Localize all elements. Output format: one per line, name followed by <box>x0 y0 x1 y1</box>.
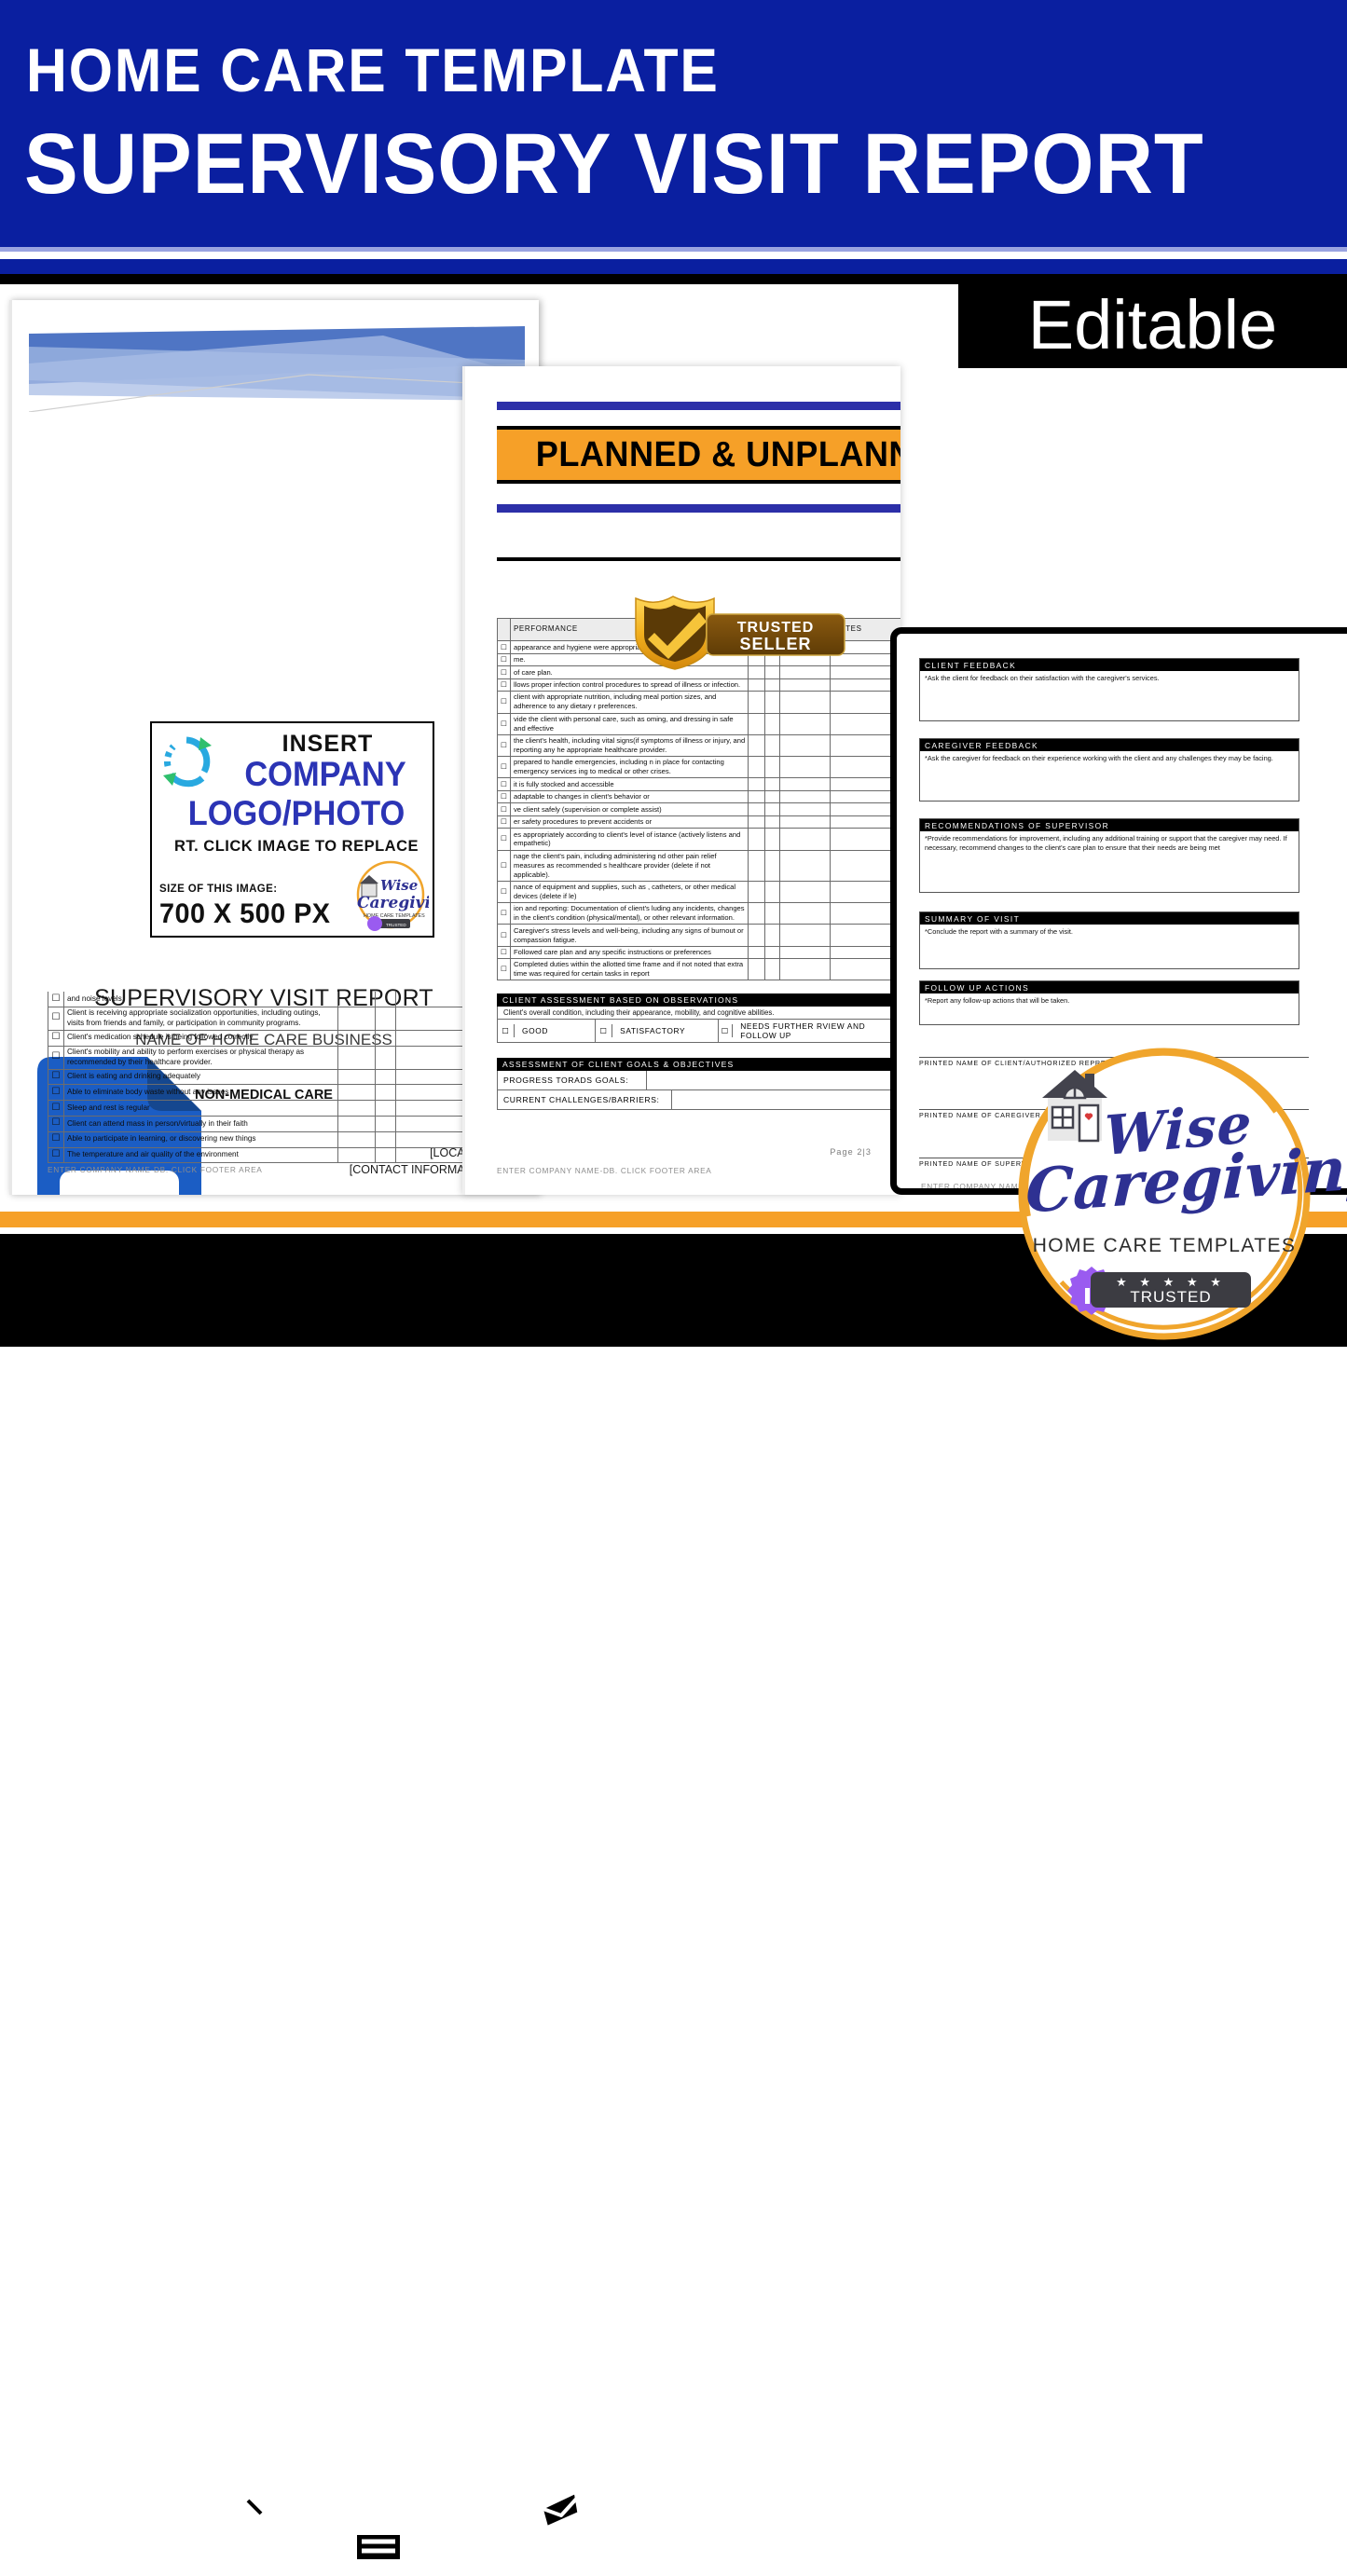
cell-cross[interactable] <box>765 678 780 691</box>
cell-requires-training[interactable] <box>780 757 831 778</box>
performance-label: nance of equipment and supplies, such as… <box>511 881 749 902</box>
checklist-label: Client's mobility and ability to perform… <box>64 1046 338 1069</box>
assessment-option[interactable]: ☐SATISFACTORY <box>596 1020 718 1042</box>
page2-goals-row[interactable]: PROGRESS TORADS GOALS: <box>497 1071 900 1090</box>
cell-check[interactable] <box>749 903 765 925</box>
table-row[interactable]: ☐prepared to handle emergencies, includi… <box>498 757 901 778</box>
page3-section-body[interactable]: *Ask the client for feedback on their sa… <box>920 671 1299 686</box>
cell-requires-training[interactable] <box>780 734 831 756</box>
cell-requires-training[interactable] <box>780 815 831 828</box>
checklist-label: and noise levels. <box>64 992 338 1007</box>
checkbox[interactable]: ☐ <box>498 815 511 828</box>
page2-footer-text[interactable]: ENTER COMPANY NAME-DB. CLICK FOOTER AREA <box>497 1166 712 1175</box>
page2-goals-heading: ASSESSMENT OF CLIENT GOALS & OBJECTIVES <box>497 1058 900 1071</box>
page3-section-heading: FOLLOW UP ACTIONS <box>920 981 1299 993</box>
cell-requires-training[interactable] <box>780 946 831 958</box>
table-row[interactable]: ☐Client's mobility and ability to perfor… <box>48 1046 486 1069</box>
table-row[interactable]: ☐Caregiver's stress levels and well-bein… <box>498 925 901 946</box>
table-row[interactable]: ☐and noise levels. <box>48 992 486 1007</box>
cell-blank-2[interactable] <box>376 1069 396 1085</box>
cell-cross[interactable] <box>765 734 780 756</box>
trusted-seller-badge: TRUSTED SELLER <box>634 594 850 672</box>
document-page-1[interactable]: INSERT COMPANY LOGO/PHOTO RT. CLICK IMAG… <box>9 300 539 1195</box>
table-row[interactable]: ☐adaptable to changes in client's behavi… <box>498 790 901 802</box>
checkbox[interactable]: ☐ <box>498 713 511 734</box>
cell-cross[interactable] <box>765 903 780 925</box>
cell-cross[interactable] <box>765 692 780 713</box>
cell-blank-1[interactable] <box>338 992 376 1007</box>
table-row[interactable]: ☐Sleep and rest is regular <box>48 1101 486 1117</box>
checkbox[interactable]: ☐ <box>498 641 511 653</box>
checklist-label: Client's medication schedule is being fo… <box>64 1030 338 1046</box>
cell-blank-1[interactable] <box>338 1085 376 1101</box>
checkbox[interactable]: ☐ <box>498 734 511 756</box>
page1-checklist-table[interactable]: ☐and noise levels.☐Client is receiving a… <box>48 992 486 1163</box>
cell-cross[interactable] <box>765 946 780 958</box>
cell-check[interactable] <box>749 713 765 734</box>
cell-requires-training[interactable] <box>780 778 831 790</box>
table-row[interactable]: ☐Followed care plan and any specific ins… <box>498 946 901 958</box>
cell-blank-2[interactable] <box>376 1131 396 1147</box>
performance-label: vide the client with personal care, such… <box>511 713 749 734</box>
checkbox[interactable]: ☐ <box>48 1030 64 1046</box>
page1-checklist-wrap: ☐and noise levels.☐Client is receiving a… <box>12 300 539 1195</box>
performance-label: ve client safely (supervision or complet… <box>511 803 749 815</box>
editable-label: Editable <box>1028 291 1277 360</box>
checkbox[interactable]: ☐ <box>498 790 511 802</box>
cell-check[interactable] <box>749 946 765 958</box>
cell-requires-training[interactable] <box>780 925 831 946</box>
performance-label: the client's health, including vital sig… <box>511 734 749 756</box>
page3-section[interactable]: CLIENT FEEDBACK*Ask the client for feedb… <box>919 658 1299 721</box>
footer-icon-row <box>37 2473 597 2576</box>
cell-check[interactable] <box>749 925 765 946</box>
page1-footer-text[interactable]: ENTER COMPANY NAME-DB. CLICK FOOTER AREA <box>48 1165 263 1174</box>
page3-section-heading: CLIENT FEEDBACK <box>920 659 1299 671</box>
checkbox[interactable]: ☐ <box>498 903 511 925</box>
table-row[interactable]: ☐ion and reporting: Documentation of cli… <box>498 903 901 925</box>
logo-tagline: HOME CARE TEMPLATES <box>1014 1235 1314 1257</box>
cell-requires-training[interactable] <box>780 881 831 902</box>
table-row[interactable]: ☐vide the client with personal care, suc… <box>498 713 901 734</box>
trusted-seller-line2: SELLER <box>739 635 811 653</box>
page3-section[interactable]: FOLLOW UP ACTIONS*Report any follow-up a… <box>919 980 1299 1025</box>
performance-label: prepared to handle emergencies, includin… <box>511 757 749 778</box>
checkbox[interactable]: ☐ <box>48 1069 64 1085</box>
editable-badge: Editable <box>958 282 1347 368</box>
table-row[interactable]: ☐nance of equipment and supplies, such a… <box>498 881 901 902</box>
performance-label: client with appropriate nutrition, inclu… <box>511 692 749 713</box>
checklist-label: Client can attend mass in person/virtual… <box>64 1116 338 1131</box>
checkbox[interactable]: ☐ <box>498 1024 515 1037</box>
page2-rule-blue-bottom <box>497 504 900 513</box>
checkbox[interactable]: ☐ <box>498 653 511 665</box>
table-row[interactable]: ☐ve client safely (supervision or comple… <box>498 803 901 815</box>
cell-cross[interactable] <box>765 850 780 881</box>
page3-section-heading: RECOMMENDATIONS OF SUPERVISOR <box>920 819 1299 831</box>
table-row[interactable]: ☐llows proper infection control procedur… <box>498 678 901 691</box>
assessment-option-label: SATISFACTORY <box>612 1024 693 1037</box>
performance-label: llows proper infection control procedure… <box>511 678 749 691</box>
checkbox[interactable]: ☐ <box>498 959 511 980</box>
cell-requires-training[interactable] <box>780 713 831 734</box>
assessment-option-label: NEEDS FURTHER RVIEW AND FOLLOW UP <box>733 1020 900 1042</box>
page3-section[interactable]: SUMMARY OF VISIT*Conclude the report wit… <box>919 911 1299 969</box>
cell-check[interactable] <box>749 815 765 828</box>
document-page-2[interactable]: PLANNED & UNPLANNED VISITS PERFORMANCE ✔… <box>462 366 900 1195</box>
email-laptop-icon[interactable] <box>483 2480 582 2570</box>
checkbox[interactable]: ☐ <box>498 946 511 958</box>
performance-label: Completed duties within the allotted tim… <box>511 959 749 980</box>
page2-goals-label-2: CURRENT CHALLENGES/BARRIERS: <box>498 1090 672 1109</box>
cell-check[interactable] <box>749 803 765 815</box>
page3-section[interactable]: RECOMMENDATIONS OF SUPERVISOR*Provide re… <box>919 818 1299 893</box>
cell-cross[interactable] <box>765 803 780 815</box>
checkbox[interactable]: ☐ <box>48 1131 64 1147</box>
cell-cross[interactable] <box>765 778 780 790</box>
cell-blank-1[interactable] <box>338 1101 376 1117</box>
checkbox[interactable]: ☐ <box>498 881 511 902</box>
cell-check[interactable] <box>749 734 765 756</box>
page2-goals-input-2[interactable] <box>672 1090 900 1109</box>
page2-rule-black <box>497 557 900 561</box>
assessment-option[interactable]: ☐NEEDS FURTHER RVIEW AND FOLLOW UP <box>719 1020 900 1042</box>
cell-requires-training[interactable] <box>780 790 831 802</box>
page2-banner-label: PLANNED & UNPLANNED VISITS <box>497 435 900 475</box>
table-row[interactable]: ☐Client can attend mass in person/virtua… <box>48 1116 486 1131</box>
checkbox[interactable]: ☐ <box>498 925 511 946</box>
page3-section-heading: SUMMARY OF VISIT <box>920 912 1299 925</box>
checkbox[interactable]: ☐ <box>498 692 511 713</box>
cell-requires-training[interactable] <box>780 959 831 980</box>
page2-client-assessment: CLIENT ASSESSMENT BASED ON OBSERVATIONS … <box>497 993 900 1043</box>
page2-goals-input-1[interactable] <box>647 1071 900 1089</box>
checkbox[interactable]: ☐ <box>498 829 511 850</box>
cell-blank-2[interactable] <box>376 1101 396 1117</box>
table-row[interactable]: ☐Able to eliminate body waste without an… <box>48 1085 486 1101</box>
checkbox[interactable]: ☐ <box>498 757 511 778</box>
cell-cross[interactable] <box>765 959 780 980</box>
table-row[interactable]: ☐Client's medication schedule is being f… <box>48 1030 486 1046</box>
checkbox[interactable]: ☐ <box>48 1085 64 1101</box>
checklist-label: Sleep and rest is regular <box>64 1101 338 1117</box>
performance-label: es appropriately according to client's l… <box>511 829 749 850</box>
table-row[interactable]: ☐Client is receiving appropriate sociali… <box>48 1007 486 1030</box>
performance-label: Followed care plan and any specific inst… <box>511 946 749 958</box>
table-row[interactable]: ☐the client's health, including vital si… <box>498 734 901 756</box>
cell-cross[interactable] <box>765 815 780 828</box>
cell-blank-1[interactable] <box>338 1046 376 1069</box>
cell-cross[interactable] <box>765 829 780 850</box>
performance-label: er safety procedures to prevent accident… <box>511 815 749 828</box>
table-row[interactable]: ☐it is fully stocked and accessible <box>498 778 901 790</box>
cell-requires-training[interactable] <box>780 692 831 713</box>
page2-rule-blue-top <box>497 402 900 410</box>
checkbox[interactable]: ☐ <box>48 1007 64 1030</box>
cell-cross[interactable] <box>765 713 780 734</box>
table-row[interactable]: ☐client with appropriate nutrition, incl… <box>498 692 901 713</box>
cell-cross[interactable] <box>765 925 780 946</box>
cell-check[interactable] <box>749 678 765 691</box>
download-icon[interactable] <box>37 2480 127 2570</box>
checkbox[interactable]: ☐ <box>498 850 511 881</box>
cell-check[interactable] <box>749 959 765 980</box>
cell-requires-training[interactable] <box>780 678 831 691</box>
checklist-label: Client is receiving appropriate socializ… <box>64 1007 338 1030</box>
performance-label: adaptable to changes in client's behavio… <box>511 790 749 802</box>
performance-label: it is fully stocked and accessible <box>511 778 749 790</box>
cell-blank-1[interactable] <box>338 1131 376 1147</box>
checkbox[interactable]: ☐ <box>48 1116 64 1131</box>
banner-line-1: HOME CARE TEMPLATE <box>26 39 720 101</box>
cell-cross[interactable] <box>765 757 780 778</box>
cell-cross[interactable] <box>765 881 780 902</box>
checklist-label: Able to eliminate body waste without any… <box>64 1085 338 1101</box>
checkbox[interactable]: ☐ <box>498 803 511 815</box>
banner-line-2: SUPERVISORY VISIT REPORT <box>24 121 1204 207</box>
cell-blank-2[interactable] <box>376 1007 396 1030</box>
page2-client-assessment-heading: CLIENT ASSESSMENT BASED ON OBSERVATIONS <box>497 993 900 1007</box>
assessment-option-label: GOOD <box>515 1024 556 1037</box>
checkbox[interactable]: ☐ <box>498 678 511 691</box>
cell-blank-2[interactable] <box>376 1116 396 1131</box>
printer-icon[interactable] <box>332 2480 425 2570</box>
table-row[interactable]: ☐es appropriately according to client's … <box>498 829 901 850</box>
cell-blank-2[interactable] <box>376 992 396 1007</box>
page1-page-number: Page 1|3 <box>12 1146 506 1156</box>
page3-section[interactable]: CAREGIVER FEEDBACK*Ask the caregiver for… <box>919 738 1299 802</box>
page2-client-assessment-subtext: Client's overall condition, including th… <box>497 1007 900 1020</box>
table-row[interactable]: ☐nage the client's pain, including admin… <box>498 850 901 881</box>
page3-section-body[interactable]: *Report any follow-up actions that will … <box>920 993 1299 1008</box>
page3-section-body[interactable]: *Conclude the report with a summary of t… <box>920 925 1299 939</box>
checkbox[interactable]: ☐ <box>719 1024 734 1037</box>
page3-section-heading: CAREGIVER FEEDBACK <box>920 739 1299 751</box>
checkbox[interactable]: ☐ <box>48 1046 64 1069</box>
table-row[interactable]: ☐er safety procedures to prevent acciden… <box>498 815 901 828</box>
divider-blue <box>0 259 1347 274</box>
cell-requires-training[interactable] <box>780 829 831 850</box>
table-row[interactable]: ☐Client is eating and drinking adequatel… <box>48 1069 486 1085</box>
table-row[interactable]: ☐Completed duties within the allotted ti… <box>498 959 901 980</box>
cell-check[interactable] <box>749 790 765 802</box>
cell-requires-training[interactable] <box>780 803 831 815</box>
cell-check[interactable] <box>749 692 765 713</box>
page3-section-body[interactable]: *Ask the caregiver for feedback on their… <box>920 751 1299 766</box>
page2-goals-section: ASSESSMENT OF CLIENT GOALS & OBJECTIVES … <box>497 1058 900 1110</box>
trusted-pill-label: TRUSTED <box>1091 1288 1251 1307</box>
page2-goals-label-1: PROGRESS TORADS GOALS: <box>498 1071 647 1089</box>
trusted-seller-line1: TRUSTED <box>737 620 815 636</box>
cell-blank-2[interactable] <box>376 1046 396 1069</box>
cell-check[interactable] <box>749 829 765 850</box>
house-icon <box>1040 1066 1109 1143</box>
top-banner: HOME CARE TEMPLATE SUPERVISORY VISIT REP… <box>0 0 1347 247</box>
checklist-label: Able to participate in learning, or disc… <box>64 1131 338 1147</box>
assessment-option[interactable]: ☐GOOD <box>498 1020 596 1042</box>
checkbox[interactable]: ☐ <box>498 666 511 678</box>
page2-goals-row[interactable]: CURRENT CHALLENGES/BARRIERS: <box>497 1090 900 1110</box>
cell-requires-training[interactable] <box>780 850 831 881</box>
page2-col-checkbox <box>498 619 511 641</box>
divider-white-top <box>0 252 1347 259</box>
checkbox[interactable]: ☐ <box>596 1024 612 1037</box>
page2-performance-table[interactable]: PERFORMANCE ✔ ✖ REQUIRES TRAINING NOTES … <box>497 618 900 980</box>
cell-blank-2[interactable] <box>376 1030 396 1046</box>
cell-check[interactable] <box>749 757 765 778</box>
cell-requires-training[interactable] <box>780 903 831 925</box>
table-row[interactable]: ☐Able to participate in learning, or dis… <box>48 1131 486 1147</box>
page2-banner: PLANNED & UNPLANNED VISITS <box>497 426 900 484</box>
cell-check[interactable] <box>749 850 765 881</box>
checkbox[interactable]: ☐ <box>48 992 64 1007</box>
checkbox[interactable]: ☐ <box>48 1101 64 1117</box>
trusted-pill: ★ ★ ★ ★ ★ TRUSTED <box>1091 1272 1251 1308</box>
cell-blank-2[interactable] <box>376 1085 396 1101</box>
cell-blank-1[interactable] <box>338 1069 376 1085</box>
performance-label: ion and reporting: Documentation of clie… <box>511 903 749 925</box>
cell-blank-1[interactable] <box>338 1030 376 1046</box>
cell-check[interactable] <box>749 881 765 902</box>
wise-caregiving-logo: Wise Caregiving HOME CARE TEMPLATES ★ ★ … <box>1014 1044 1314 1344</box>
page2-client-assessment-options[interactable]: ☐GOOD☐SATISFACTORY☐NEEDS FURTHER RVIEW A… <box>497 1020 900 1043</box>
edit-document-icon[interactable] <box>185 2480 274 2570</box>
cell-check[interactable] <box>749 778 765 790</box>
checkbox[interactable]: ☐ <box>498 778 511 790</box>
checklist-label: Client is eating and drinking adequately <box>64 1069 338 1085</box>
cell-cross[interactable] <box>765 790 780 802</box>
page2-page-number: Page 2|3 <box>465 1147 872 1157</box>
performance-label: Caregiver's stress levels and well-being… <box>511 925 749 946</box>
page3-section-body[interactable]: *Provide recommendations for improvement… <box>920 831 1299 856</box>
performance-label: nage the client's pain, including admini… <box>511 850 749 881</box>
cell-blank-1[interactable] <box>338 1007 376 1030</box>
cell-blank-1[interactable] <box>338 1116 376 1131</box>
